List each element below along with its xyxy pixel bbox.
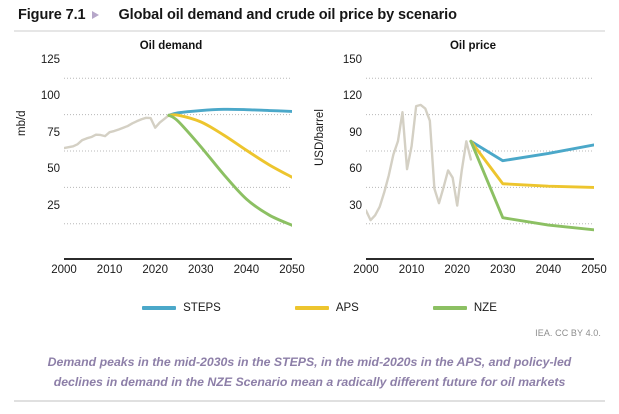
page-title: Global oil demand and crude oil price by… (119, 7, 457, 23)
x-axis-ticks-oil-demand: 2000 2010 2020 2030 2040 2050 (64, 264, 292, 282)
y-tick-label: 30 (310, 200, 362, 212)
y-axis-ticks-oil-price: 150 120 90 60 30 (310, 60, 362, 242)
caption-line-2: declines in demand in the NZE Scenario m… (26, 372, 593, 392)
y-tick-label: 50 (8, 163, 60, 175)
legend-item-nze[interactable]: NZE (433, 302, 497, 314)
legend-label-nze: NZE (474, 302, 497, 314)
series-line-nze (169, 115, 292, 225)
chart-panel-oil-demand: Oil demand mb/d 125 100 75 50 25 2000 20… (8, 36, 308, 288)
oil-demand-lines (64, 60, 292, 242)
x-tick-label: 2050 (581, 264, 607, 276)
chart-panel-oil-price: Oil price USD/barrel 150 120 90 60 30 20… (310, 36, 610, 288)
series-line-aps (169, 115, 292, 177)
x-axis-line-oil-demand (64, 258, 292, 260)
x-tick-label: 2010 (399, 264, 425, 276)
legend-color-swatch-nze (433, 306, 467, 310)
y-tick-label: 120 (310, 90, 362, 102)
x-axis-line-oil-price (366, 258, 594, 260)
x-tick-label: 2040 (536, 264, 562, 276)
x-tick-label: 2010 (97, 264, 123, 276)
x-tick-label: 2030 (188, 264, 214, 276)
license-credit: IEA. CC BY 4.0. (535, 328, 601, 338)
legend-label-steps: STEPS (183, 302, 221, 314)
triangle-right-icon (92, 11, 99, 19)
charts-area: Oil demand mb/d 125 100 75 50 25 2000 20… (0, 36, 619, 288)
y-tick-label: 75 (8, 127, 60, 139)
y-tick-label: 100 (8, 90, 60, 102)
caption-line-1: Demand peaks in the mid-2030s in the STE… (26, 352, 593, 372)
y-tick-label: 25 (8, 200, 60, 212)
legend-label-aps: APS (336, 302, 359, 314)
x-tick-label: 2040 (234, 264, 260, 276)
x-tick-label: 2000 (51, 264, 77, 276)
legend-item-steps[interactable]: STEPS (142, 302, 221, 314)
figure-caption: Demand peaks in the mid-2030s in the STE… (26, 352, 593, 392)
y-tick-label: 125 (8, 54, 60, 66)
legend-color-swatch-aps (295, 306, 329, 310)
header-divider (14, 30, 605, 32)
chart-title-oil-price: Oil price (310, 40, 610, 52)
chart-title-oil-demand: Oil demand (8, 40, 308, 52)
figure-number: Figure 7.1 (18, 7, 86, 23)
oil-price-lines (366, 60, 594, 242)
footer-divider (14, 400, 605, 402)
series-line-historical (64, 115, 169, 148)
series-line-historical (366, 105, 471, 220)
x-tick-label: 2030 (490, 264, 516, 276)
legend-color-swatch-steps (142, 306, 176, 310)
x-tick-label: 2050 (279, 264, 305, 276)
y-tick-label: 90 (310, 127, 362, 139)
x-axis-ticks-oil-price: 2000 2010 2020 2030 2040 2050 (366, 264, 594, 282)
y-tick-label: 150 (310, 54, 362, 66)
series-line-steps (471, 141, 594, 160)
chart-legend: STEPS APS NZE (0, 296, 619, 320)
legend-item-aps[interactable]: APS (295, 302, 359, 314)
y-tick-label: 60 (310, 163, 362, 175)
x-tick-label: 2020 (444, 264, 470, 276)
x-tick-label: 2000 (353, 264, 379, 276)
figure-header: Figure 7.1 Global oil demand and crude o… (0, 0, 619, 30)
y-axis-ticks-oil-demand: 125 100 75 50 25 (8, 60, 60, 242)
figure-container: Figure 7.1 Global oil demand and crude o… (0, 0, 619, 414)
x-tick-label: 2020 (142, 264, 168, 276)
plot-area-oil-demand (64, 60, 292, 242)
plot-area-oil-price (366, 60, 594, 242)
